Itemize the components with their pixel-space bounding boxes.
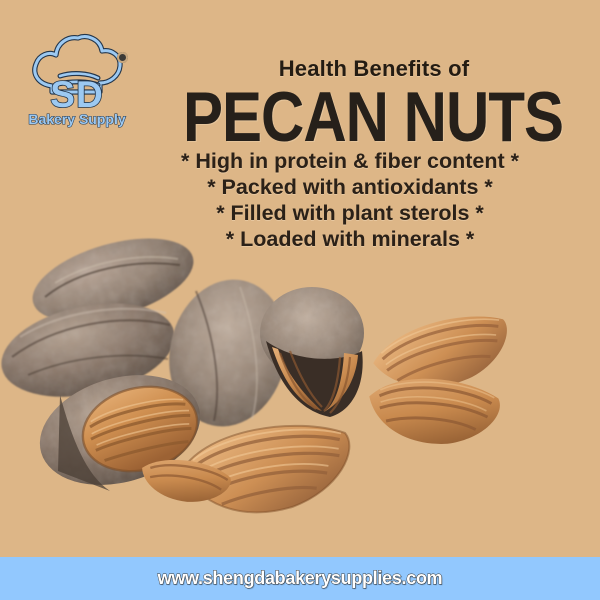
- pecan-nuts-poster: SD Bakery Supply Health Benefits of PECA…: [0, 0, 600, 600]
- logo-monogram: SD: [18, 76, 136, 113]
- benefit-item: * Filled with plant sterols *: [110, 200, 590, 226]
- pecan-half-right-lower: [364, 370, 502, 452]
- benefit-item: * Packed with antioxidants *: [110, 174, 590, 200]
- pecan-opening-shell: [260, 287, 364, 417]
- logo-subtitle: Bakery Supply: [18, 112, 136, 126]
- page-title: PECAN NUTS: [146, 76, 600, 157]
- registered-trademark-icon: [117, 52, 128, 63]
- footer-bar: www.shengdabakerysupplies.com: [0, 557, 600, 600]
- brand-logo[interactable]: SD Bakery Supply: [18, 24, 136, 124]
- pecan-nuts-photo: [0, 225, 520, 525]
- benefit-item: * High in protein & fiber content *: [110, 148, 590, 174]
- website-url[interactable]: www.shengdabakerysupplies.com: [158, 568, 443, 589]
